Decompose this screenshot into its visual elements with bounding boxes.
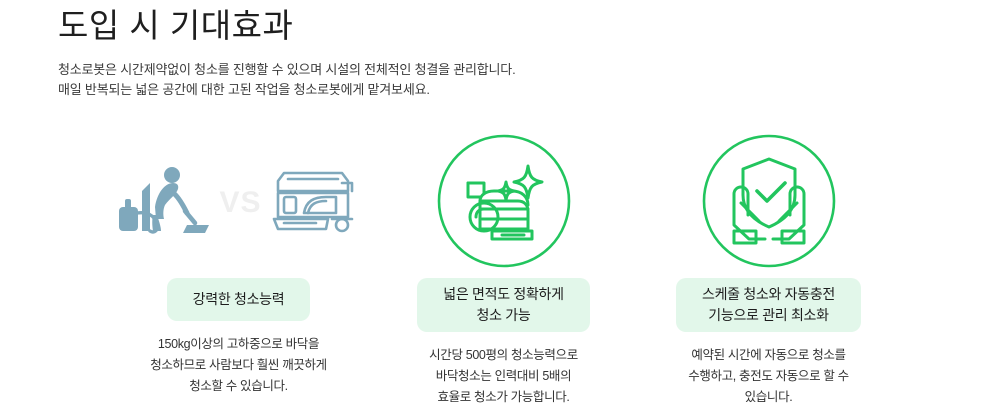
card-visual-1: VS — [117, 128, 359, 278]
vs-label: VS — [213, 186, 267, 220]
card-body-2-line-1: 시간당 500평의 청소능력으로 — [429, 345, 578, 366]
card-visual-2 — [436, 128, 572, 278]
page-header: 도입 시 기대효과 청소로봇은 시간제약없이 청소를 진행할 수 있으며 시설의… — [58, 4, 938, 100]
card-body-3-line-2: 수행하고, 충전도 자동으로 할 수 — [688, 366, 849, 387]
benefit-cards-row: VS — [0, 128, 1000, 408]
card-body-3-line-3: 있습니다. — [688, 387, 849, 408]
card-body-3-line-1: 예약된 시간에 자동으로 청소를 — [688, 345, 849, 366]
subtitle-line-1: 청소로봇은 시간제약없이 청소를 진행할 수 있으며 시설의 전체적인 청결을 … — [58, 60, 938, 80]
card-body-3: 예약된 시간에 자동으로 청소를 수행하고, 충전도 자동으로 할 수 있습니다… — [688, 345, 849, 408]
page-title: 도입 시 기대효과 — [58, 4, 938, 48]
card-pill-1-line-1: 강력한 청소능력 — [193, 289, 285, 310]
card-visual-3 — [701, 128, 837, 278]
card-pill-3-line-2: 기능으로 관리 최소화 — [708, 305, 828, 326]
page-subtitle: 청소로봇은 시간제약없이 청소를 진행할 수 있으며 시설의 전체적인 청결을 … — [58, 60, 938, 100]
card-body-1-line-1: 150kg이상의 고하중으로 바닥을 — [150, 334, 327, 355]
card-pill-3-line-1: 스케줄 청소와 자동충전 — [702, 284, 835, 305]
vs-comparison-illustration: VS — [117, 161, 359, 246]
card-body-1-line-3: 청소할 수 있습니다. — [150, 376, 327, 397]
floor-scrubber-sparkle-circle-icon — [436, 133, 572, 274]
card-body-1-line-2: 청소하므로 사람보다 훨씬 깨끗하게 — [150, 355, 327, 376]
benefit-card-cleaning-power: VS — [106, 128, 371, 408]
person-vacuum-icon — [117, 161, 213, 246]
card-body-2-line-3: 효율로 청소가 가능합니다. — [429, 387, 578, 408]
card-body-2-line-2: 바닥청소는 인력대비 5배의 — [429, 366, 578, 387]
card-pill-2-line-1: 넓은 면적도 정확하게 — [443, 284, 563, 305]
robot-scrubber-outline-icon — [268, 161, 360, 246]
benefit-card-wide-area: 넓은 면적도 정확하게 청소 가능 시간당 500평의 청소능력으로 바닥청소는… — [371, 128, 636, 408]
card-pill-2: 넓은 면적도 정확하게 청소 가능 — [417, 278, 589, 332]
card-pill-3: 스케줄 청소와 자동충전 기능으로 관리 최소화 — [676, 278, 861, 332]
card-body-2: 시간당 500평의 청소능력으로 바닥청소는 인력대비 5배의 효율로 청소가 … — [429, 345, 578, 408]
hands-holding-shield-check-circle-icon — [701, 133, 837, 274]
card-pill-2-line-2: 청소 가능 — [477, 305, 531, 326]
benefit-card-schedule-autocharge: 스케줄 청소와 자동충전 기능으로 관리 최소화 예약된 시간에 자동으로 청소… — [636, 128, 901, 408]
card-pill-1: 강력한 청소능력 — [167, 278, 311, 321]
card-body-1: 150kg이상의 고하중으로 바닥을 청소하므로 사람보다 훨씬 깨끗하게 청소… — [150, 334, 327, 397]
subtitle-line-2: 매일 반복되는 넓은 공간에 대한 고된 작업을 청소로봇에게 맡겨보세요. — [58, 80, 938, 100]
